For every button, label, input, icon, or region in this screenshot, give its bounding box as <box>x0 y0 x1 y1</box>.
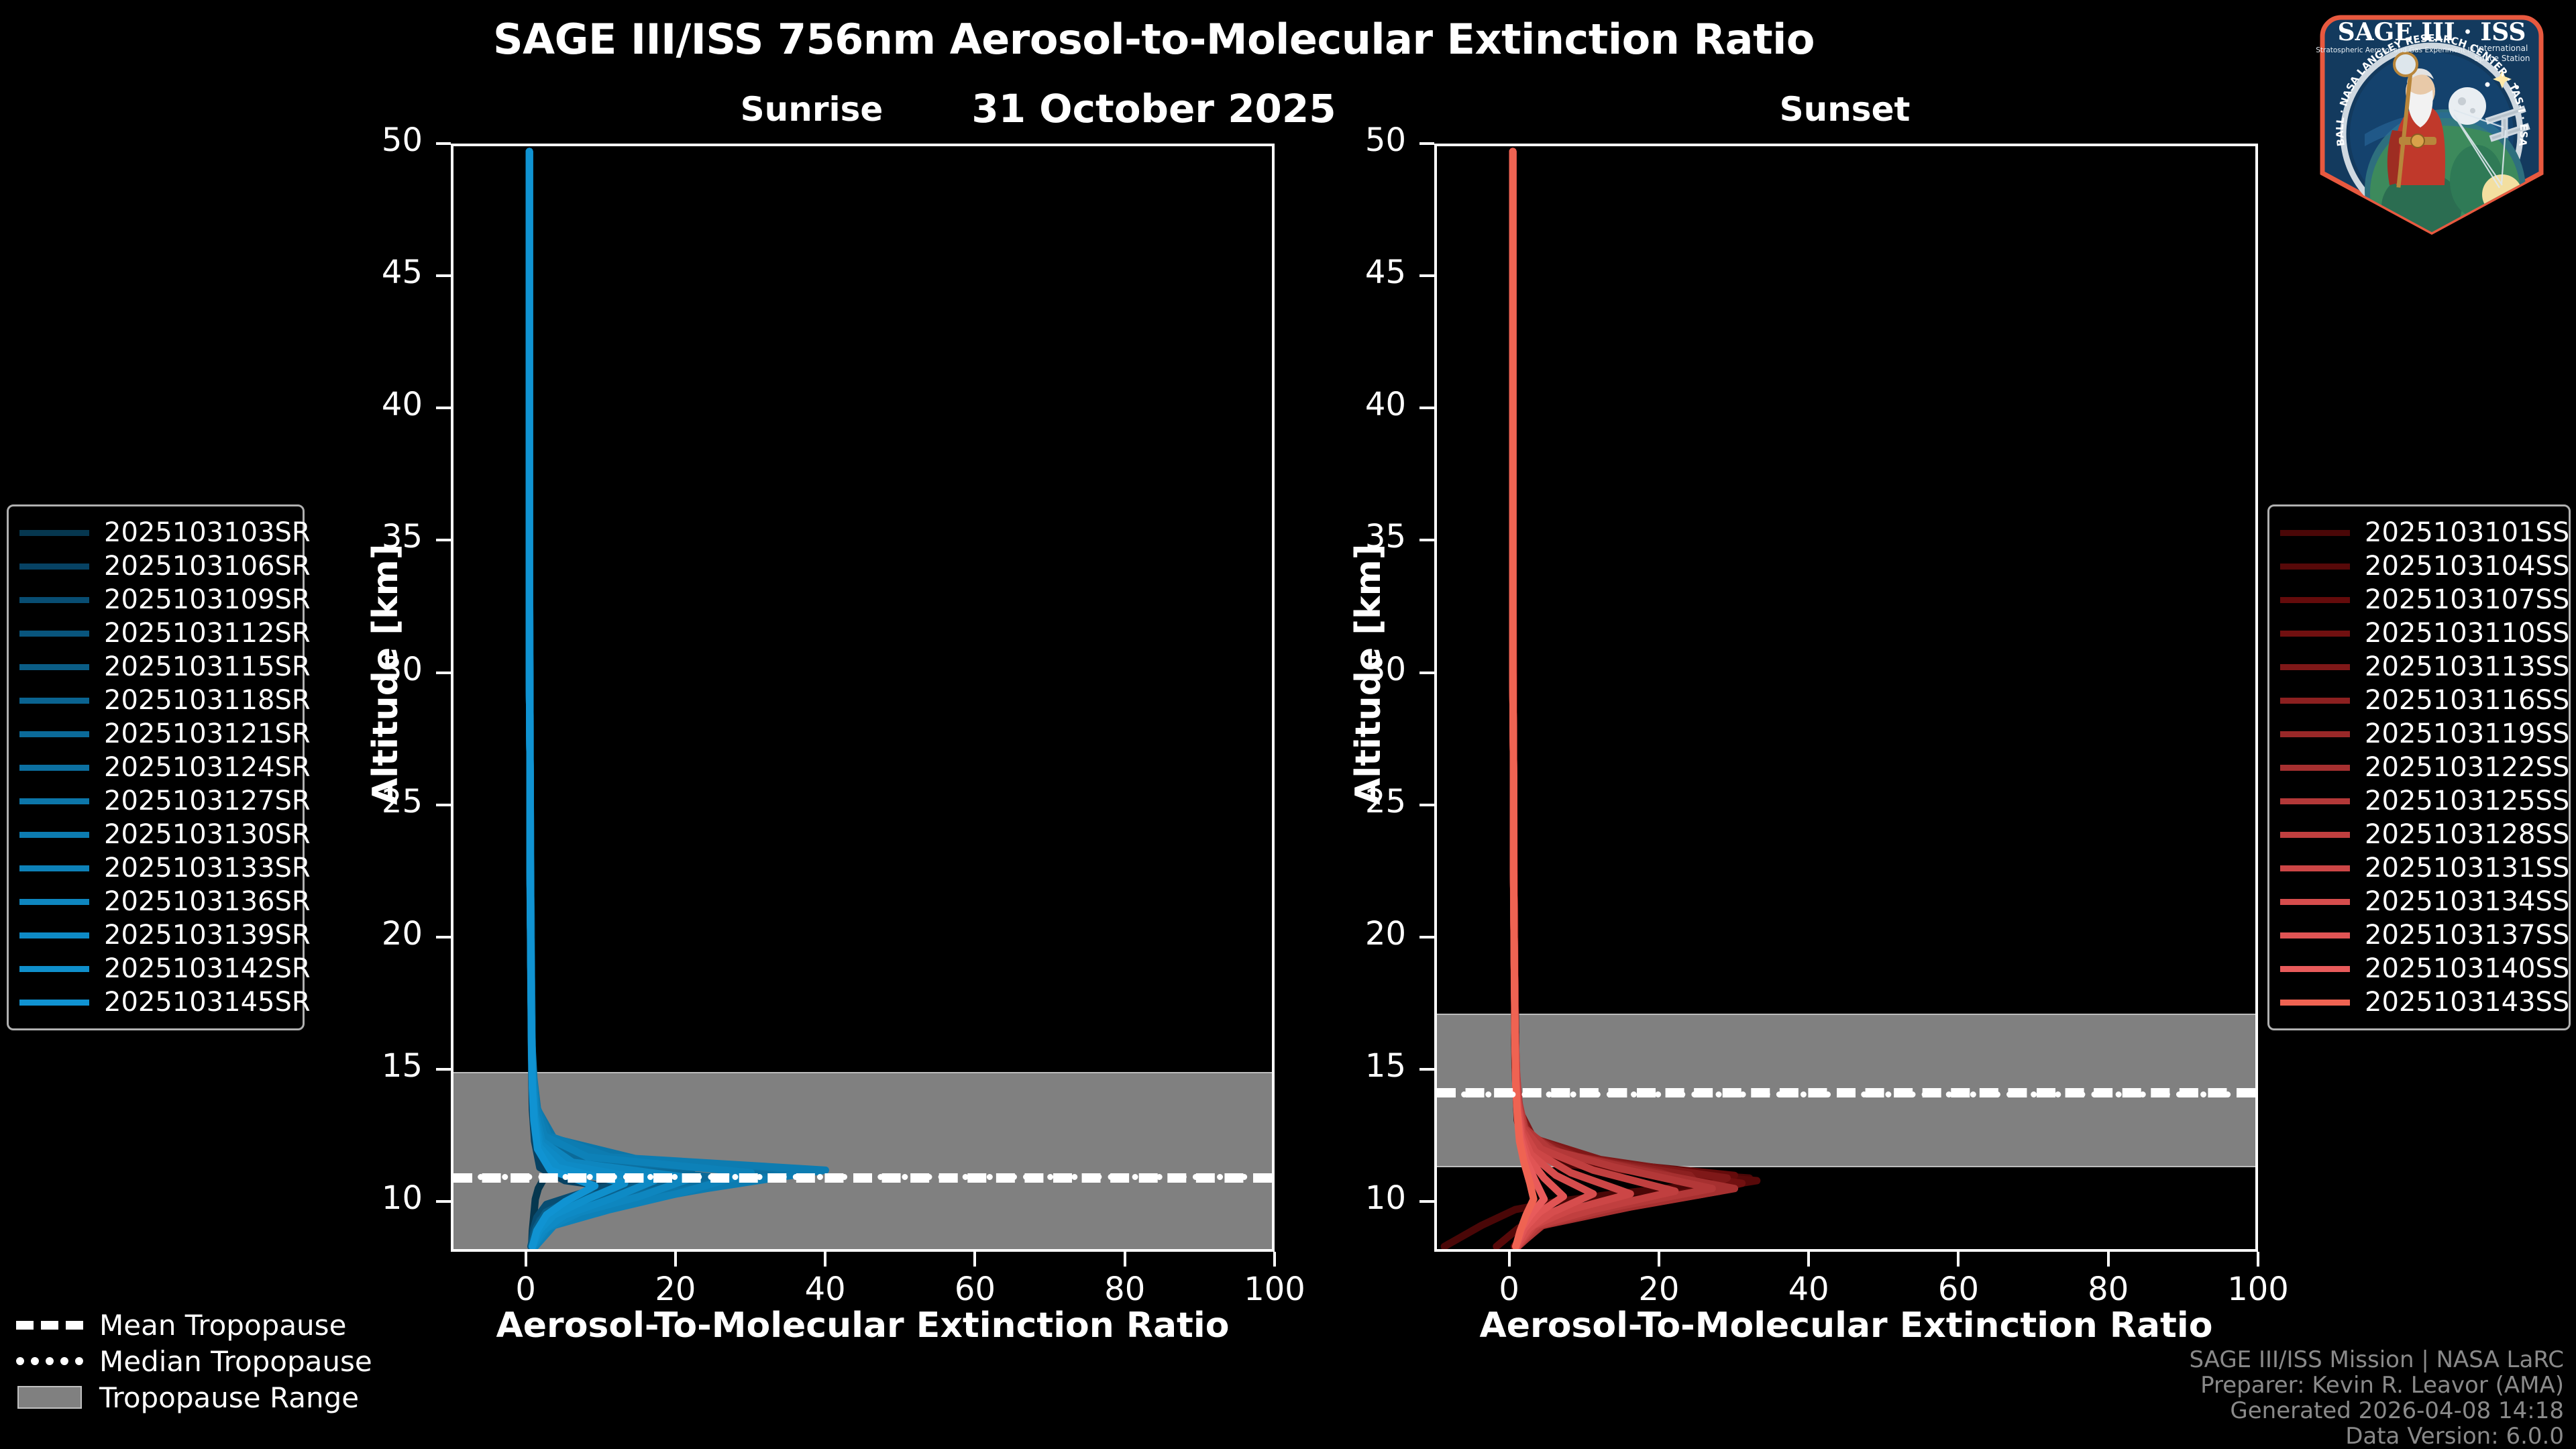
y-tick-mark <box>436 1200 451 1203</box>
legend-item-event[interactable]: 2025103110SS <box>2280 616 2557 650</box>
legend-event-label: 2025103137SS <box>2350 920 2569 951</box>
y-tick-mark <box>1419 1068 1434 1071</box>
filled-box-icon <box>15 1379 85 1415</box>
legend-event-label: 2025103139SR <box>89 920 311 951</box>
legend-item-event[interactable]: 2025103125SS <box>2280 784 2557 818</box>
y-tick-mark <box>1419 804 1434 806</box>
footer-preparer: Preparer: Kevin R. Leavor (AMA) <box>2189 1373 2564 1398</box>
legend-color-swatch <box>19 1000 89 1006</box>
legend-item-event[interactable]: 2025103130SR <box>19 818 290 851</box>
profile-line <box>1513 152 1712 1246</box>
x-tick-label: 100 <box>2198 1271 2318 1308</box>
x-tick-mark <box>1124 1252 1126 1267</box>
profile-line <box>1513 152 1705 1246</box>
profile-line <box>1497 152 1757 1246</box>
legend-item-event[interactable]: 2025103121SR <box>19 717 290 751</box>
x-tick-mark <box>1957 1252 1960 1267</box>
legend-color-swatch <box>2280 832 2350 838</box>
profile-line <box>529 152 721 1246</box>
profile-line <box>529 152 751 1246</box>
legend-item-event[interactable]: 2025103119SS <box>2280 717 2557 751</box>
profile-line <box>1513 152 1742 1246</box>
x-tick-label: 80 <box>1065 1271 1185 1308</box>
legend-event-label: 2025103124SR <box>89 752 311 783</box>
legend-color-swatch <box>2280 731 2350 737</box>
legend-event-label: 2025103140SS <box>2350 953 2569 984</box>
panel-title-sunrise: Sunrise <box>577 90 1046 129</box>
y-tick-label: 45 <box>337 254 423 291</box>
y-tick-mark <box>436 274 451 277</box>
legend-color-swatch <box>2280 597 2350 603</box>
y-tick-label: 35 <box>337 518 423 555</box>
legend-event-label: 2025103145SR <box>89 987 311 1018</box>
x-tick-label: 60 <box>1898 1271 2019 1308</box>
y-tick-mark <box>1419 1200 1434 1203</box>
y-tick-mark <box>436 936 451 938</box>
footer-generated: Generated 2026-04-08 14:18 <box>2189 1398 2564 1424</box>
profile-line <box>1444 152 1750 1246</box>
legend-event-label: 2025103134SS <box>2350 886 2569 917</box>
y-tick-mark <box>1419 142 1434 145</box>
profile-line <box>529 152 595 1246</box>
legend-color-swatch <box>19 631 89 637</box>
legend-event-label: 2025103107SS <box>2350 584 2569 615</box>
legend-event-label: 2025103110SS <box>2350 618 2569 649</box>
legend-event-label: 2025103142SR <box>89 953 311 984</box>
legend-color-swatch <box>2280 1000 2350 1006</box>
legend-item-event[interactable]: 2025103118SR <box>19 684 290 717</box>
y-tick-label: 25 <box>337 783 423 820</box>
profile-line <box>529 152 654 1246</box>
legend-item-event[interactable]: 2025103139SR <box>19 918 290 952</box>
y-tick-label: 50 <box>1320 121 1406 159</box>
profile-line <box>529 152 825 1246</box>
legend-color-swatch <box>2280 865 2350 871</box>
profile-line <box>1513 152 1630 1246</box>
legend-item-event[interactable]: 2025103133SR <box>19 851 290 885</box>
x-tick-mark <box>2257 1252 2259 1267</box>
dashed-line-icon <box>15 1307 85 1343</box>
legend-item-event[interactable]: 2025103104SS <box>2280 549 2557 583</box>
x-tick-label: 20 <box>1599 1271 1719 1308</box>
legend-item-event[interactable]: 2025103134SS <box>2280 885 2557 918</box>
legend-event-label: 2025103143SS <box>2350 987 2569 1018</box>
legend-item-tropopause-range: Tropopause Range <box>15 1379 372 1415</box>
legend-item-event[interactable]: 2025103116SS <box>2280 684 2557 717</box>
legend-item-event[interactable]: 2025103109SR <box>19 583 290 616</box>
y-tick-mark <box>1419 407 1434 409</box>
y-tick-label: 45 <box>1320 254 1406 291</box>
legend-color-swatch <box>19 530 89 536</box>
x-tick-label: 0 <box>466 1271 586 1308</box>
x-tick-label: 80 <box>2048 1271 2169 1308</box>
x-axis-label-sunset: Aerosol-To-Molecular Extinction Ratio <box>1434 1305 2258 1346</box>
x-tick-mark <box>2107 1252 2110 1267</box>
y-tick-label: 40 <box>337 386 423 423</box>
legend-event-label: 2025103113SS <box>2350 651 2569 682</box>
legend-event-label: 2025103101SS <box>2350 517 2569 548</box>
plot-area-sunset <box>1434 144 2258 1252</box>
legend-color-swatch <box>19 664 89 670</box>
page-title: SAGE III/ISS 756nm Aerosol-to-Molecular … <box>0 15 2308 64</box>
legend-color-swatch <box>19 798 89 804</box>
profile-line <box>1513 152 1534 1246</box>
profile-line <box>529 152 661 1246</box>
legend-event-label: 2025103121SR <box>89 718 311 749</box>
legend-event-label: 2025103127SR <box>89 786 311 816</box>
x-tick-label: 20 <box>615 1271 736 1308</box>
profile-line <box>1513 152 1735 1246</box>
footer-mission: SAGE III/ISS Mission | NASA LaRC <box>2189 1347 2564 1373</box>
legend-event-label: 2025103133SR <box>89 853 311 883</box>
profile-line <box>1513 152 1593 1246</box>
legend-color-swatch <box>2280 664 2350 670</box>
y-tick-mark <box>436 1068 451 1071</box>
legend-event-label: 2025103119SS <box>2350 718 2569 749</box>
legend-color-swatch <box>19 966 89 972</box>
legend-item-event[interactable]: 2025103142SR <box>19 952 290 985</box>
legend-item-event[interactable]: 2025103140SS <box>2280 952 2557 985</box>
legend-event-label: 2025103130SR <box>89 819 311 850</box>
x-tick-label: 40 <box>1748 1271 1869 1308</box>
legend-event-label: 2025103112SR <box>89 618 311 649</box>
legend-item-event[interactable]: 2025103106SR <box>19 549 290 583</box>
legend-item-event[interactable]: 2025103103SR <box>19 516 290 549</box>
y-tick-label: 50 <box>337 121 423 159</box>
legend-color-swatch <box>2280 899 2350 905</box>
legend-color-swatch <box>2280 698 2350 704</box>
legend-sunrise[interactable]: 2025103103SR2025103106SR2025103109SR2025… <box>7 504 305 1030</box>
footer: SAGE III/ISS Mission | NASA LaRC Prepare… <box>2189 1347 2564 1449</box>
legend-item-event[interactable]: 2025103128SS <box>2280 818 2557 851</box>
legend-event-label: 2025103115SR <box>89 651 311 682</box>
legend-color-swatch <box>2280 631 2350 637</box>
x-tick-mark <box>674 1252 677 1267</box>
legend-event-label: 2025103136SR <box>89 886 311 917</box>
legend-event-label: 2025103125SS <box>2350 786 2569 816</box>
sage-iii-iss-logo: BALL · NASA LANGLEY RESEARCH CENTER · TA… <box>2301 5 2563 240</box>
legend-item-event[interactable]: 2025103143SS <box>2280 985 2557 1019</box>
legend-item-event[interactable]: 2025103136SR <box>19 885 290 918</box>
y-tick-mark <box>1419 672 1434 674</box>
legend-event-label: 2025103122SS <box>2350 752 2569 783</box>
legend-event-label: 2025103104SS <box>2350 551 2569 582</box>
legend-color-swatch <box>19 731 89 737</box>
y-tick-label: 30 <box>337 651 423 688</box>
legend-item-event[interactable]: 2025103145SR <box>19 985 290 1019</box>
legend-color-swatch <box>19 865 89 871</box>
y-tick-label: 35 <box>1320 518 1406 555</box>
legend-color-swatch <box>2280 798 2350 804</box>
legend-color-swatch <box>2280 530 2350 536</box>
legend-label-mean-tropopause: Mean Tropopause <box>85 1309 346 1342</box>
median-tropopause-line <box>453 1174 1272 1180</box>
legend-sunset[interactable]: 2025103101SS2025103104SS2025103107SS2025… <box>2267 504 2571 1030</box>
footer-data-version: Data Version: 6.0.0 <box>2189 1424 2564 1449</box>
y-tick-mark <box>1419 539 1434 541</box>
x-tick-mark <box>1273 1252 1276 1267</box>
y-tick-label: 25 <box>1320 783 1406 820</box>
profile-lines-sunrise <box>453 146 1272 1249</box>
x-tick-mark <box>1508 1252 1511 1267</box>
y-tick-mark <box>436 539 451 541</box>
legend-tropopause: Mean Tropopause Median Tropopause Tropop… <box>15 1307 372 1415</box>
y-tick-label: 10 <box>337 1179 423 1217</box>
legend-label-tropopause-range: Tropopause Range <box>85 1381 359 1414</box>
legend-color-swatch <box>2280 563 2350 570</box>
y-tick-label: 40 <box>1320 386 1406 423</box>
x-tick-mark <box>1807 1252 1810 1267</box>
y-tick-label: 20 <box>1320 915 1406 953</box>
x-tick-label: 100 <box>1214 1271 1335 1308</box>
x-tick-mark <box>824 1252 826 1267</box>
legend-color-swatch <box>19 698 89 704</box>
profile-line <box>1513 152 1727 1246</box>
legend-item-event[interactable]: 2025103115SR <box>19 650 290 684</box>
profile-line <box>529 152 692 1246</box>
legend-color-swatch <box>2280 765 2350 771</box>
legend-label-median-tropopause: Median Tropopause <box>85 1345 372 1378</box>
y-tick-label: 15 <box>337 1047 423 1085</box>
profile-line <box>529 152 773 1246</box>
profile-line <box>529 152 654 1246</box>
profile-line <box>529 152 625 1246</box>
legend-item-event[interactable]: 2025103107SS <box>2280 583 2557 616</box>
plot-area-sunrise <box>451 144 1275 1252</box>
legend-item-event[interactable]: 2025103127SR <box>19 784 290 818</box>
legend-color-swatch <box>2280 966 2350 972</box>
profile-line <box>529 152 810 1246</box>
profile-line <box>529 152 632 1246</box>
logo-subtitle-left: Stratospheric Aerosol and Gas Experiment… <box>2316 46 2474 54</box>
plot-canvas: SAGE III/ISS 756nm Aerosol-to-Molecular … <box>0 0 2576 1449</box>
logo-subtitle-right-1: International <box>2477 44 2528 53</box>
y-tick-label: 30 <box>1320 651 1406 688</box>
profile-line <box>1513 152 1735 1246</box>
profile-line <box>1513 152 1675 1246</box>
legend-item-event[interactable]: 2025103124SR <box>19 751 290 784</box>
median-tropopause-line <box>1437 1091 2255 1097</box>
dotted-line-icon <box>15 1343 85 1379</box>
legend-color-swatch <box>19 932 89 938</box>
y-tick-mark <box>436 672 451 674</box>
legend-event-label: 2025103131SS <box>2350 853 2569 883</box>
legend-event-label: 2025103116SS <box>2350 685 2569 716</box>
y-tick-label: 10 <box>1320 1179 1406 1217</box>
profile-line <box>529 152 684 1246</box>
legend-item-event[interactable]: 2025103113SS <box>2280 650 2557 684</box>
y-tick-label: 15 <box>1320 1047 1406 1085</box>
legend-item-event[interactable]: 2025103112SR <box>19 616 290 650</box>
legend-event-label: 2025103103SR <box>89 517 311 548</box>
x-tick-mark <box>973 1252 976 1267</box>
legend-event-label: 2025103106SR <box>89 551 311 582</box>
profile-line <box>529 152 654 1246</box>
profile-line <box>1513 152 1719 1246</box>
legend-item-event[interactable]: 2025103131SS <box>2280 851 2557 885</box>
x-tick-mark <box>1658 1252 1660 1267</box>
x-tick-label: 40 <box>765 1271 885 1308</box>
y-tick-mark <box>436 804 451 806</box>
profile-line <box>529 152 692 1246</box>
x-tick-mark <box>525 1252 527 1267</box>
panel-title-sunset: Sunset <box>1610 90 2080 129</box>
x-axis-label-sunrise: Aerosol-To-Molecular Extinction Ratio <box>451 1305 1275 1346</box>
legend-event-label: 2025103128SS <box>2350 819 2569 850</box>
legend-color-swatch <box>19 563 89 570</box>
y-tick-label: 20 <box>337 915 423 953</box>
y-tick-mark <box>1419 936 1434 938</box>
logo-title: SAGE III · ISS <box>2338 18 2526 46</box>
legend-event-label: 2025103118SR <box>89 685 311 716</box>
legend-color-swatch <box>19 597 89 603</box>
legend-color-swatch <box>19 899 89 905</box>
x-tick-label: 0 <box>1449 1271 1570 1308</box>
legend-item-mean-tropopause: Mean Tropopause <box>15 1307 372 1343</box>
legend-item-median-tropopause: Median Tropopause <box>15 1343 372 1379</box>
y-tick-mark <box>1419 274 1434 277</box>
legend-color-swatch <box>19 765 89 771</box>
legend-item-event[interactable]: 2025103137SS <box>2280 918 2557 952</box>
legend-event-label: 2025103109SR <box>89 584 311 615</box>
legend-color-swatch <box>2280 932 2350 938</box>
y-tick-mark <box>436 407 451 409</box>
legend-item-event[interactable]: 2025103101SS <box>2280 516 2557 549</box>
legend-color-swatch <box>19 832 89 838</box>
profile-lines-sunset <box>1437 146 2255 1249</box>
y-tick-mark <box>436 142 451 145</box>
logo-subtitle-right-2: Space Station <box>2474 54 2530 63</box>
x-tick-label: 60 <box>914 1271 1035 1308</box>
legend-item-event[interactable]: 2025103122SS <box>2280 751 2557 784</box>
